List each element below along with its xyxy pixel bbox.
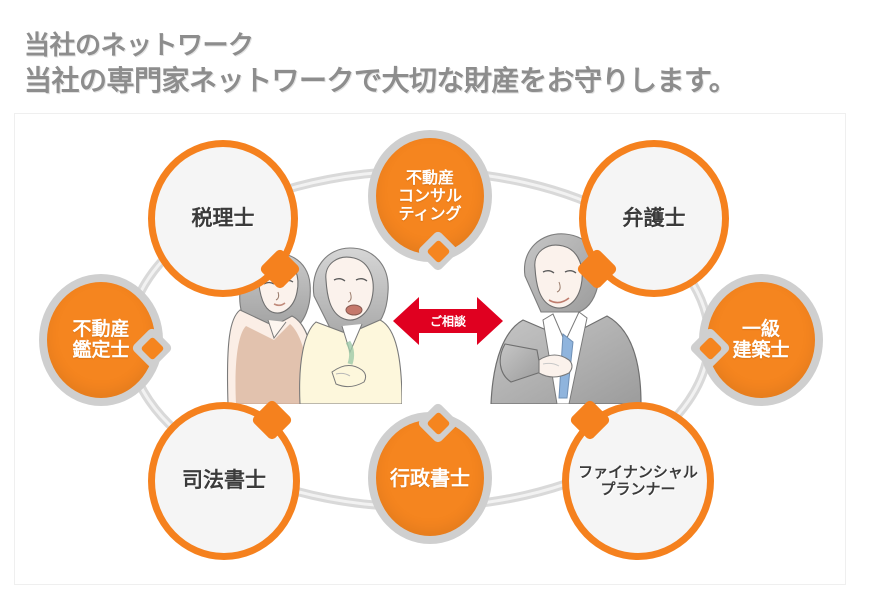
tail-bottom-right bbox=[265, 254, 295, 284]
node-label-judicial-scrivener: 司法書士 bbox=[182, 469, 266, 493]
tail-top-right bbox=[257, 405, 287, 435]
page-title-line1: 当社のネットワーク bbox=[24, 30, 854, 63]
node-label-financial-planner: ファイナンシャル プランナー bbox=[578, 464, 698, 498]
tail-right bbox=[137, 333, 167, 363]
diagram-canvas: ご相談 税理士 不動産 コンサル ティング 弁護士 一級 建築士 bbox=[15, 114, 845, 584]
tail-top-left bbox=[575, 405, 605, 435]
node-tax-accountant[interactable]: 税理士 bbox=[148, 140, 298, 297]
node-label-real-estate-appraiser: 不動産 鑑定士 bbox=[72, 319, 129, 362]
consultation-arrow-label: ご相談 bbox=[393, 313, 503, 330]
tail-top bbox=[423, 408, 453, 438]
node-administrative-scrivener[interactable]: 行政書士 bbox=[368, 412, 492, 544]
node-label-lawyer: 弁護士 bbox=[623, 207, 686, 231]
node-label-tax-accountant: 税理士 bbox=[192, 207, 255, 231]
node-first-class-architect[interactable]: 一級 建築士 bbox=[699, 274, 823, 406]
node-judicial-scrivener[interactable]: 司法書士 bbox=[148, 402, 300, 560]
tail-bottom-left bbox=[582, 254, 612, 284]
tail-bottom bbox=[423, 236, 453, 266]
network-diagram-page: 当社のネットワーク 当社の専門家ネットワークで大切な財産をお守りします。 bbox=[0, 0, 876, 595]
node-real-estate-consulting[interactable]: 不動産 コンサル ティング bbox=[368, 130, 492, 262]
consultation-arrow: ご相談 bbox=[393, 292, 503, 350]
node-label-real-estate-consulting: 不動産 コンサル ティング bbox=[398, 169, 462, 223]
diagram-panel: ご相談 税理士 不動産 コンサル ティング 弁護士 一級 建築士 bbox=[14, 113, 846, 585]
node-financial-planner[interactable]: ファイナンシャル プランナー bbox=[562, 402, 714, 560]
node-label-first-class-architect: 一級 建築士 bbox=[732, 319, 789, 362]
tail-left bbox=[695, 333, 725, 363]
node-lawyer[interactable]: 弁護士 bbox=[579, 140, 729, 297]
page-title: 当社のネットワーク 当社の専門家ネットワークで大切な財産をお守りします。 bbox=[24, 30, 854, 99]
page-title-line2: 当社の専門家ネットワークで大切な財産をお守りします。 bbox=[24, 63, 854, 99]
node-real-estate-appraiser[interactable]: 不動産 鑑定士 bbox=[39, 274, 163, 406]
node-label-administrative-scrivener: 行政書士 bbox=[390, 467, 470, 489]
